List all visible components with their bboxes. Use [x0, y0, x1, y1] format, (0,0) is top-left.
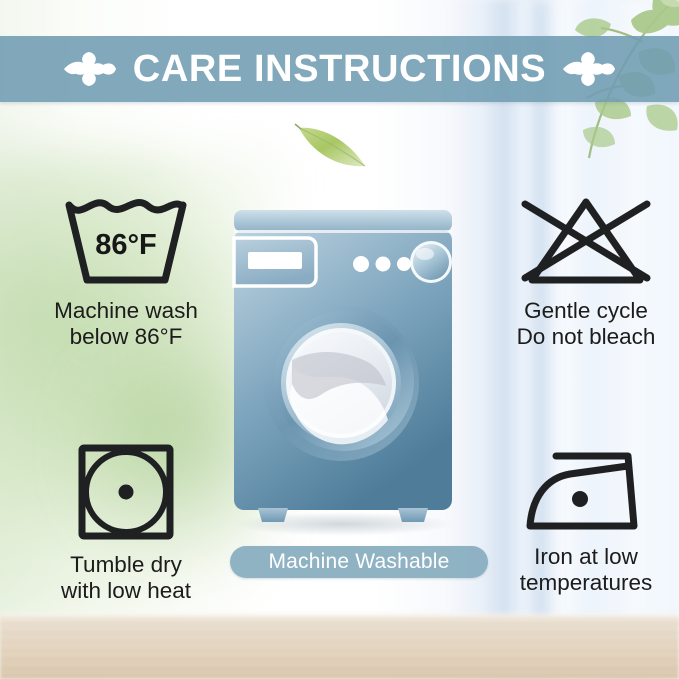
fleur-de-lis-ornament-right-icon: [562, 50, 616, 88]
fleur-de-lis-ornament-left-icon: [63, 50, 117, 88]
care-label-tumble-dry: Tumble dry with low heat: [61, 552, 191, 605]
washer-foot-left: [258, 508, 288, 522]
washer-foot-right: [398, 508, 428, 522]
washer-indicator-dot-3: [397, 257, 411, 271]
page-title: CARE INSTRUCTIONS: [133, 50, 546, 88]
washer-program-knob: [413, 244, 449, 280]
wash-tub-icon: 86°F: [52, 196, 200, 288]
washer-lid-seam: [234, 230, 452, 233]
wash-temperature-value: 86°F: [95, 229, 157, 261]
care-label-machine-wash: Machine wash below 86°F: [54, 298, 198, 351]
washer-drawer-handle: [248, 252, 302, 269]
care-item-tumble-dry: Tumble dry with low heat: [26, 442, 226, 605]
care-label-iron-low: Iron at low temperatures: [520, 544, 653, 597]
care-item-iron-low: Iron at low temperatures: [492, 442, 679, 597]
care-label-do-not-bleach: Gentle cycle Do not bleach: [517, 298, 656, 351]
iron-low-temperature-icon: [522, 442, 650, 534]
washer-lid: [234, 210, 452, 232]
tumble-dry-low-icon: [76, 442, 176, 542]
care-item-do-not-bleach: Gentle cycle Do not bleach: [492, 196, 679, 351]
do-not-bleach-triangle-icon: [511, 196, 661, 288]
washer-indicator-dot-2: [376, 257, 391, 272]
care-item-machine-wash: 86°F Machine wash below 86°F: [26, 196, 226, 351]
status-badge-machine-washable: Machine Washable: [230, 546, 488, 578]
washer-knob-highlight: [416, 248, 434, 260]
header-banner: CARE INSTRUCTIONS: [0, 36, 679, 102]
washing-machine-illustration: [228, 208, 458, 538]
care-instructions-graphic: CARE INSTRUCTIONS 86°F Machine wash belo…: [0, 0, 679, 679]
background-table-grain: [0, 617, 679, 679]
washer-indicator-dot-1: [353, 256, 369, 272]
